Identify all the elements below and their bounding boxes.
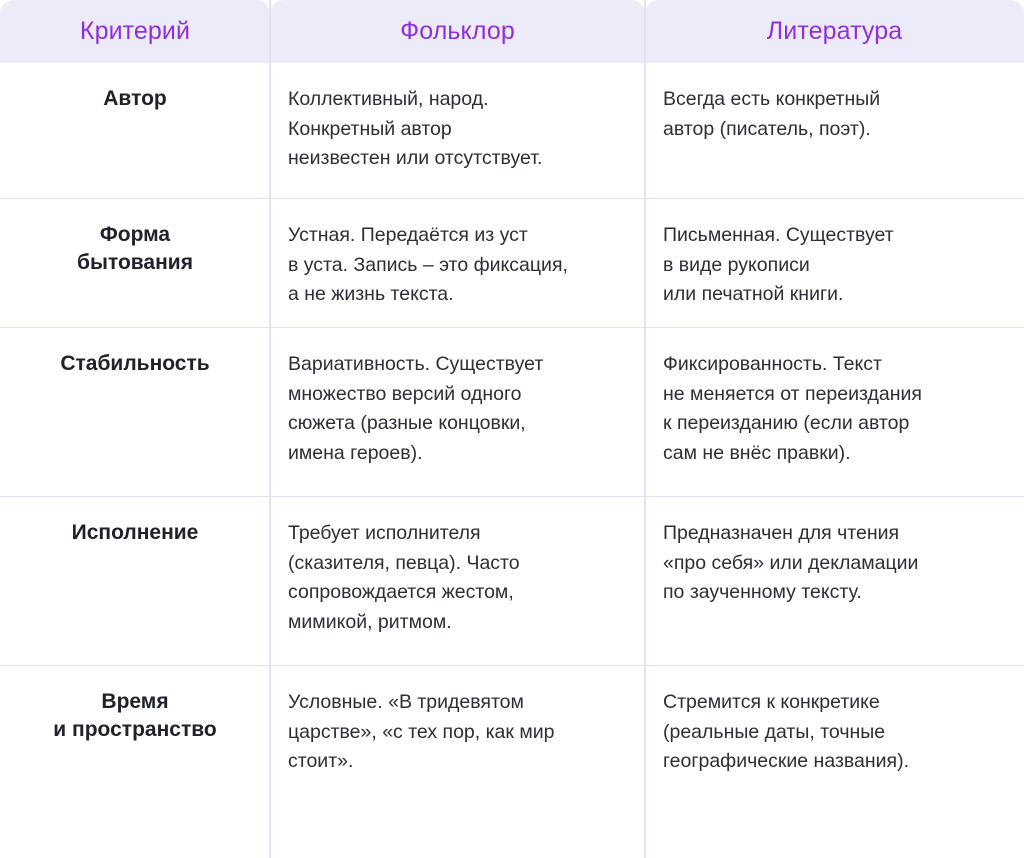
folklore-text: Устная. Передаётся из уст в уста. Запись… — [288, 221, 621, 310]
column-header-literature-label: Литература — [767, 19, 902, 44]
table-header-row: Критерий Фольклор Литература — [0, 0, 1024, 63]
folklore-text: Требует исполнителя (сказителя, певца). … — [288, 519, 621, 638]
comparison-table: Критерий Фольклор Литература Автор Колле… — [0, 0, 1024, 858]
table-row: Форма бытования Устная. Передаётся из ус… — [0, 199, 1024, 328]
cell-folklore: Вариативность. Существует множество верс… — [270, 328, 645, 496]
cell-literature: Фиксированность. Текст не меняется от пе… — [645, 328, 1024, 496]
criterion-label: Автор — [14, 85, 256, 113]
cell-folklore: Устная. Передаётся из уст в уста. Запись… — [270, 199, 645, 327]
column-header-criterion: Критерий — [0, 0, 270, 63]
cell-criterion: Исполнение — [0, 497, 270, 665]
literature-text: Стремится к конкретике (реальные даты, т… — [663, 688, 1002, 777]
table-row: Автор Коллективный, народ. Конкретный ав… — [0, 63, 1024, 199]
folklore-text: Условные. «В тридевятом царстве», «с тех… — [288, 688, 621, 777]
column-header-criterion-label: Критерий — [80, 19, 190, 44]
criterion-label: Время и пространство — [14, 688, 256, 744]
literature-text: Фиксированность. Текст не меняется от пе… — [663, 350, 1002, 469]
criterion-label: Форма бытования — [14, 221, 256, 277]
folklore-text: Вариативность. Существует множество верс… — [288, 350, 621, 469]
cell-literature: Предназначен для чтения «про себя» или д… — [645, 497, 1024, 665]
table-row: Стабильность Вариативность. Существует м… — [0, 328, 1024, 497]
table-row: Время и пространство Условные. «В тридев… — [0, 666, 1024, 858]
literature-text: Письменная. Существует в виде рукописи и… — [663, 221, 1002, 310]
criterion-label: Исполнение — [14, 519, 256, 547]
cell-folklore: Коллективный, народ. Конкретный автор не… — [270, 63, 645, 198]
cell-literature: Всегда есть конкретный автор (писатель, … — [645, 63, 1024, 198]
cell-criterion: Автор — [0, 63, 270, 198]
cell-literature: Стремится к конкретике (реальные даты, т… — [645, 666, 1024, 858]
column-header-folklore-label: Фольклор — [400, 19, 515, 44]
column-header-folklore: Фольклор — [270, 0, 645, 63]
cell-criterion: Стабильность — [0, 328, 270, 496]
literature-text: Предназначен для чтения «про себя» или д… — [663, 519, 1002, 608]
table-body: Автор Коллективный, народ. Конкретный ав… — [0, 63, 1024, 858]
folklore-text: Коллективный, народ. Конкретный автор не… — [288, 85, 621, 174]
cell-literature: Письменная. Существует в виде рукописи и… — [645, 199, 1024, 327]
criterion-label: Стабильность — [14, 350, 256, 378]
cell-criterion: Форма бытования — [0, 199, 270, 327]
cell-criterion: Время и пространство — [0, 666, 270, 858]
cell-folklore: Условные. «В тридевятом царстве», «с тех… — [270, 666, 645, 858]
cell-folklore: Требует исполнителя (сказителя, певца). … — [270, 497, 645, 665]
table-row: Исполнение Требует исполнителя (сказител… — [0, 497, 1024, 666]
column-header-literature: Литература — [645, 0, 1024, 63]
literature-text: Всегда есть конкретный автор (писатель, … — [663, 85, 1002, 144]
